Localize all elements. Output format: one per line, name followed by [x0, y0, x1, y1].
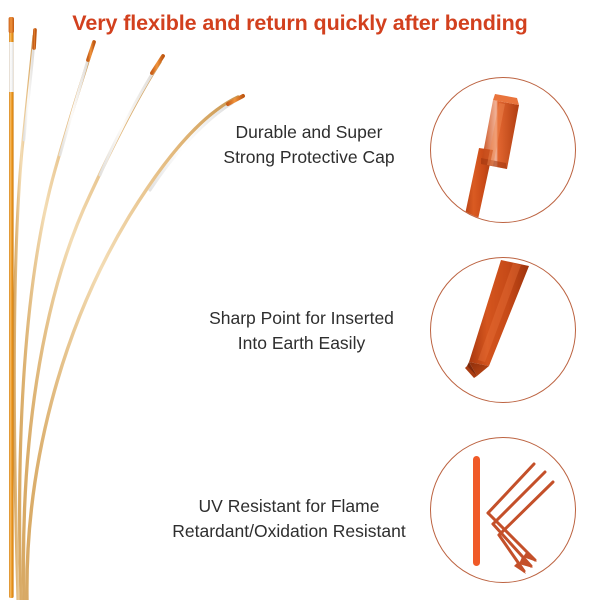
feature-label-uv-resistant: UV Resistant for Flame Retardant/Oxidati…: [145, 494, 433, 544]
feature-line-2: Strong Protective Cap: [185, 145, 433, 170]
feature-line-2: Retardant/Oxidation Resistant: [145, 519, 433, 544]
feature-label-sharp-point: Sharp Point for Inserted Into Earth Easi…: [170, 306, 433, 356]
feature-line-2: Into Earth Easily: [170, 331, 433, 356]
feature-label-durable-cap: Durable and Super Strong Protective Cap: [185, 120, 433, 170]
feature-line-1: UV Resistant for Flame: [145, 494, 433, 519]
uv-ray-group: [488, 464, 553, 571]
detail-photo-sharp-point: [430, 257, 576, 403]
feature-line-1: Sharp Point for Inserted: [170, 306, 433, 331]
feature-line-1: Durable and Super: [185, 120, 433, 145]
marker-rod-4: [24, 56, 163, 600]
detail-photo-protective-cap: [430, 77, 576, 223]
product-infographic: Very flexible and return quickly after b…: [0, 0, 600, 600]
marker-rod-1-straight: [9, 17, 14, 598]
detail-diagram-uv-resistance: [430, 437, 576, 583]
uv-rod-bar: [473, 456, 480, 566]
